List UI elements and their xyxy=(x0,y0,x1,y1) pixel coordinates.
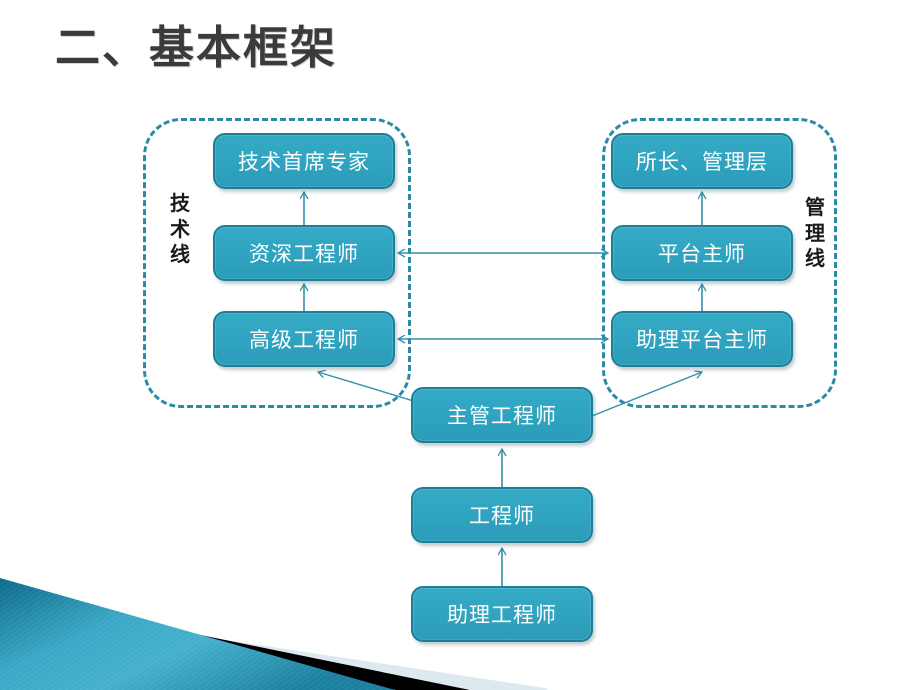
node-chief-technical-expert[interactable]: 技术首席专家 xyxy=(213,133,395,189)
ribbon-blue-wedge xyxy=(0,578,395,690)
node-director-and-management[interactable]: 所长、管理层 xyxy=(611,133,793,189)
node-director-and-management-label: 所长、管理层 xyxy=(636,146,768,176)
group-label-technical-char-1: 术 xyxy=(167,218,193,244)
node-senior-engineer[interactable]: 资深工程师 xyxy=(213,225,395,281)
node-assistant-platform-chief-label: 助理平台主师 xyxy=(636,324,768,354)
node-assistant-platform-chief[interactable]: 助理平台主师 xyxy=(611,311,793,367)
group-label-management-char-1: 理 xyxy=(802,222,828,248)
group-label-management-char-2: 线 xyxy=(802,247,828,273)
ribbon-black-band xyxy=(0,594,470,690)
slide-canvas: 二、基本框架 技 术 线 管 理 线 xyxy=(0,0,920,690)
node-advanced-engineer[interactable]: 高级工程师 xyxy=(213,311,395,367)
node-supervising-engineer[interactable]: 主管工程师 xyxy=(411,387,593,443)
page-title: 二、基本框架 xyxy=(55,22,337,74)
group-label-management: 管 理 线 xyxy=(802,196,828,273)
node-advanced-engineer-label: 高级工程师 xyxy=(249,324,359,354)
group-label-technical-char-2: 线 xyxy=(167,243,193,269)
node-senior-engineer-label: 资深工程师 xyxy=(249,238,359,268)
node-platform-chief-label: 平台主师 xyxy=(658,238,746,268)
group-label-technical: 技 术 线 xyxy=(167,192,193,269)
group-label-management-char-0: 管 xyxy=(802,196,828,222)
node-platform-chief[interactable]: 平台主师 xyxy=(611,225,793,281)
node-engineer-label: 工程师 xyxy=(469,500,535,530)
group-label-technical-char-0: 技 xyxy=(167,192,193,218)
node-engineer[interactable]: 工程师 xyxy=(411,487,593,543)
ribbon-blue-wedge-texture xyxy=(0,578,395,690)
node-assistant-engineer[interactable]: 助理工程师 xyxy=(411,586,593,642)
node-supervising-engineer-label: 主管工程师 xyxy=(447,400,557,430)
node-chief-technical-expert-label: 技术首席专家 xyxy=(238,146,370,176)
node-assistant-engineer-label: 助理工程师 xyxy=(447,599,557,629)
